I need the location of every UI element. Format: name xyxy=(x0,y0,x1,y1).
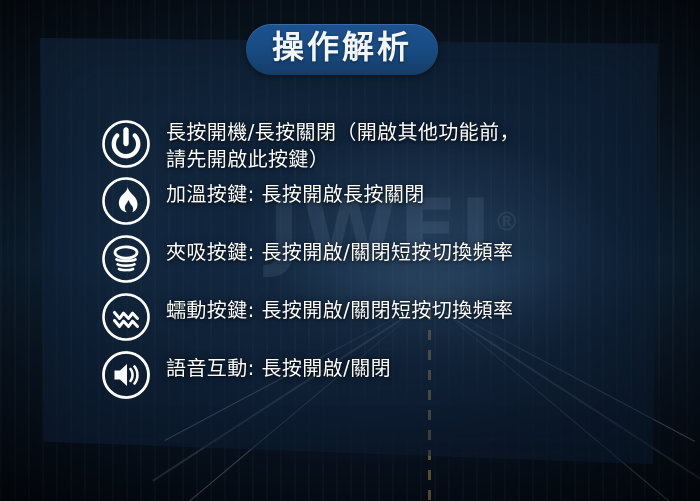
list-item: 加溫按鍵: 長按開啟長按關閉 xyxy=(100,175,600,227)
feature-list: 長按開機/長按關閉（開啟其他功能前， 請先開啟此按鍵） 加溫按鍵: 長按開啟長按… xyxy=(100,118,600,407)
speaker-icon xyxy=(100,349,152,401)
flame-icon xyxy=(100,175,152,227)
feature-description: 夾吸按鍵: 長按開啟/關閉短按切換頻率 xyxy=(166,233,513,266)
title-badge: 操作解析 xyxy=(246,24,438,75)
wave-icon xyxy=(100,291,152,343)
list-item: 長按開機/長按關閉（開啟其他功能前， 請先開啟此按鍵） xyxy=(100,118,600,173)
product-info-slide: JWEI® 操作解析 長按開機/長按關閉（開啟其他功能前， 請先開啟此按鍵） xyxy=(0,0,700,501)
power-icon xyxy=(100,118,152,170)
list-item: 夾吸按鍵: 長按開啟/關閉短按切換頻率 xyxy=(100,233,600,285)
page-title: 操作解析 xyxy=(272,30,412,66)
list-item: 語音互動: 長按開啟/關閉 xyxy=(100,349,600,401)
list-item: 蠕動按鍵: 長按開啟/關閉短按切換頻率 xyxy=(100,291,600,343)
feature-description: 長按開機/長按關閉（開啟其他功能前， 請先開啟此按鍵） xyxy=(166,118,520,173)
feature-description: 蠕動按鍵: 長按開啟/關閉短按切換頻率 xyxy=(166,291,513,324)
feature-description: 加溫按鍵: 長按開啟長按關閉 xyxy=(166,175,425,208)
suction-icon xyxy=(100,233,152,285)
feature-description: 語音互動: 長按開啟/關閉 xyxy=(166,349,391,382)
